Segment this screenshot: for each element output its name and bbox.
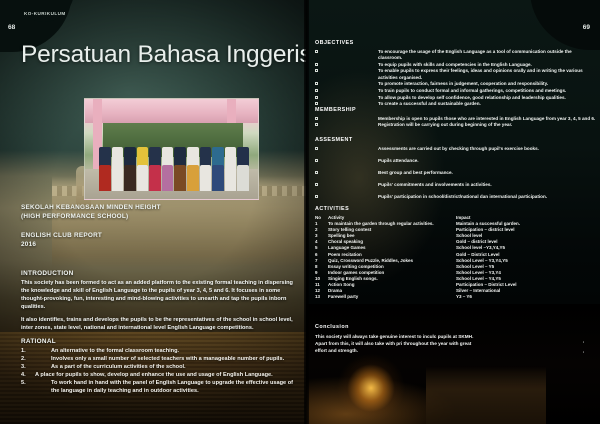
report-year: 2016 xyxy=(21,240,102,249)
list-item: To promote interaction, fairness in judg… xyxy=(315,81,597,88)
rational-item: 2.Involves only a small number of select… xyxy=(21,355,299,363)
square-bullet-icon xyxy=(315,68,321,75)
membership-list: Membership is open to pupils those who a… xyxy=(315,116,597,129)
photo-people-back-row xyxy=(99,147,249,167)
magazine-spread: KO-KURIKULUM 68 Persatuan Bahasa Inggeri… xyxy=(0,0,600,424)
assessment-section: ASSESMENT Assessments are carried out by… xyxy=(315,137,597,206)
table-row: 13Farewell partyY3 – Y6 xyxy=(315,294,599,300)
objectives-list: To encourage the usage of the English La… xyxy=(315,49,597,108)
square-bullet-icon xyxy=(315,62,321,69)
rational-item: 1.An alternative to the formal classroom… xyxy=(21,347,299,355)
activities-heading: ACTIVITIES xyxy=(315,206,599,212)
corner-mark-lower: ▪ xyxy=(583,350,584,354)
square-bullet-icon xyxy=(315,146,321,153)
square-bullet-icon xyxy=(315,88,321,95)
report-title: ENGLISH CLUB REPORT xyxy=(21,231,102,240)
introduction-heading: INTRODUCTION xyxy=(21,270,293,277)
left-page: KO-KURIKULUM 68 Persatuan Bahasa Inggeri… xyxy=(0,0,306,424)
square-bullet-icon xyxy=(315,122,321,129)
list-item: To enable pupils to express their feelin… xyxy=(315,68,597,81)
list-item: Registration will be carrying out during… xyxy=(315,122,597,129)
conclusion-section: Conclusion This society will always take… xyxy=(315,324,475,354)
rational-item: 4.A place for pupils to show, develop an… xyxy=(21,371,299,379)
square-bullet-icon xyxy=(315,49,321,56)
objectives-section: OBJECTIVES To encourage the usage of the… xyxy=(315,40,597,108)
square-bullet-icon xyxy=(315,81,321,88)
square-bullet-icon xyxy=(315,170,321,177)
square-bullet-icon xyxy=(315,116,321,123)
column-header-activity: Activity xyxy=(328,215,456,222)
list-item: To encourage the usage of the English La… xyxy=(315,49,597,62)
conclusion-body: This society will always take genuine in… xyxy=(315,333,475,354)
rational-list: 1.An alternative to the formal classroom… xyxy=(21,347,299,396)
school-name-line-2: (HIGH PERFORMANCE SCHOOL) xyxy=(21,212,161,221)
list-item-label: Assessments are carried out by checking … xyxy=(378,146,597,153)
list-item-label: To enable pupils to express their feelin… xyxy=(378,68,597,81)
night-scene-photo xyxy=(306,304,600,424)
rational-item-text: As a part of the curriculum activities o… xyxy=(51,363,299,371)
objectives-heading: OBJECTIVES xyxy=(315,40,597,46)
list-item-label: To equip pupils with skills and competen… xyxy=(378,62,597,69)
conclusion-heading: Conclusion xyxy=(315,324,475,330)
list-item: Membership is open to pupils those who a… xyxy=(315,116,597,123)
list-item: Pupils' participation in school/district… xyxy=(315,194,597,201)
list-item-label: To allow pupils to develop self confiden… xyxy=(378,95,597,102)
rational-item-text: To work hand in hand with the panel of E… xyxy=(51,379,299,395)
activities-table-head: No Activity Impact xyxy=(315,215,599,222)
corner-mark-upper: ▪ xyxy=(583,340,584,344)
ko-kurikulum-label: KO-KURIKULUM xyxy=(24,11,66,16)
rational-section: RATIONAL 1.An alternative to the formal … xyxy=(21,338,299,396)
introduction-paragraph-1: This society has been formed to act as a… xyxy=(21,279,293,311)
list-item: Best group and best performance. xyxy=(315,170,597,177)
list-item: To equip pupils with skills and competen… xyxy=(315,62,597,69)
rational-item-number: 1. xyxy=(21,347,51,355)
rational-item: 5.To work hand in hand with the panel of… xyxy=(21,379,299,395)
rational-item-number: 5. xyxy=(21,379,51,395)
rational-item-number: 4. xyxy=(21,371,35,379)
column-header-impact: Impact xyxy=(456,215,599,222)
list-item-label: Best group and best performance. xyxy=(378,170,597,177)
square-bullet-icon xyxy=(315,194,321,201)
school-name-line-1: SEKOLAH KEBANGSAAN MINDEN HEIGHT xyxy=(21,203,161,212)
list-item: Pupils' commitments and involvements in … xyxy=(315,182,597,189)
rational-item: 3.As a part of the curriculum activities… xyxy=(21,363,299,371)
rational-item-number: 2. xyxy=(21,355,51,363)
introduction-paragraph-2: It also identifies, trains and develops … xyxy=(21,316,293,332)
rational-item-number: 3. xyxy=(21,363,51,371)
rational-item-text: An alternative to the formal classroom t… xyxy=(51,347,299,355)
list-item-label: Pupils attendance. xyxy=(378,158,597,165)
list-item-label: Pupils' participation in school/district… xyxy=(378,194,597,201)
list-item: Pupils attendance. xyxy=(315,158,597,165)
rational-heading: RATIONAL xyxy=(21,338,299,345)
activity-no: 13 xyxy=(315,294,328,300)
table-header-row: No Activity Impact xyxy=(315,215,599,222)
group-photo xyxy=(84,98,259,200)
rational-item-text: Involves only a small number of selected… xyxy=(51,355,299,363)
activities-table: No Activity Impact 1To maintain the gard… xyxy=(315,215,599,301)
night-building-silhouette xyxy=(426,366,546,424)
activity-impact: Y3 – Y6 xyxy=(456,294,599,300)
list-item: To train pupils to conduct formal and in… xyxy=(315,88,597,95)
list-item-label: Registration will be carrying out during… xyxy=(378,122,597,129)
list-item-label: Membership is open to pupils those who a… xyxy=(378,116,597,123)
activity-name: Farewell party xyxy=(328,294,456,300)
square-bullet-icon xyxy=(315,158,321,165)
report-title-block: ENGLISH CLUB REPORT 2016 xyxy=(21,231,102,249)
introduction-body: This society has been formed to act as a… xyxy=(21,279,293,333)
assessment-heading: ASSESMENT xyxy=(315,137,597,143)
school-name-block: SEKOLAH KEBANGSAAN MINDEN HEIGHT (HIGH P… xyxy=(21,203,161,221)
square-bullet-icon xyxy=(315,95,321,102)
introduction-section: INTRODUCTION This society has been forme… xyxy=(21,270,293,338)
page-title: Persatuan Bahasa Inggeris xyxy=(21,41,306,69)
rational-item-text: A place for pupils to show, develop and … xyxy=(35,371,299,379)
photo-people-front-row xyxy=(99,165,249,191)
membership-heading: MEMBERSHIP xyxy=(315,107,597,113)
list-item-label: To encourage the usage of the English La… xyxy=(378,49,597,62)
square-bullet-icon xyxy=(315,182,321,189)
activities-section: ACTIVITIES No Activity Impact 1To mainta… xyxy=(315,206,599,300)
list-item-label: To train pupils to conduct formal and in… xyxy=(378,88,597,95)
column-header-no: No xyxy=(315,215,328,222)
list-item: Assessments are carried out by checking … xyxy=(315,146,597,153)
activities-table-body: 1To maintain the garden through regular … xyxy=(315,221,599,300)
page-number-left: 68 xyxy=(8,24,15,31)
list-item: To allow pupils to develop self confiden… xyxy=(315,95,597,102)
right-page: 69 OBJECTIVES To encourage the usage of … xyxy=(306,0,600,424)
membership-section: MEMBERSHIP Membership is open to pupils … xyxy=(315,107,597,129)
list-item-label: Pupils' commitments and involvements in … xyxy=(378,182,597,189)
page-number-right: 69 xyxy=(583,24,590,31)
assessment-list: Assessments are carried out by checking … xyxy=(315,146,597,201)
list-item-label: To promote interaction, fairness in judg… xyxy=(378,81,597,88)
